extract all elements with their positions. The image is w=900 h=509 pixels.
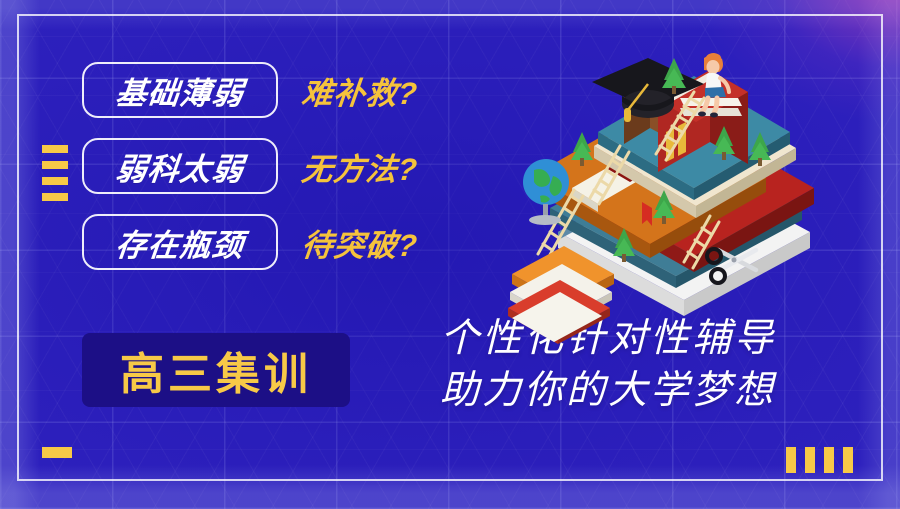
- problem-list: 基础薄弱 难补救? 弱科太弱 无方法? 存在瓶颈 待突破?: [82, 62, 418, 290]
- gold-dash: [42, 145, 68, 153]
- course-badge: 高三集训: [82, 333, 350, 407]
- book-stack-illustration: [498, 36, 884, 326]
- gold-dash: [42, 161, 68, 169]
- problem-label: 基础薄弱: [114, 68, 247, 113]
- gold-dash: [42, 193, 68, 201]
- problem-row: 基础薄弱 难补救?: [82, 62, 418, 118]
- gold-bar: [786, 447, 796, 473]
- tagline-block: 个性化针对性辅导 助力你的大学梦想: [440, 313, 776, 417]
- gold-dash: [42, 177, 68, 185]
- gold-bar: [843, 447, 853, 473]
- left-gold-dash-group: [42, 145, 68, 201]
- tagline-line-2: 助力你的大学梦想: [440, 365, 776, 417]
- badge-text: 高三集训: [120, 338, 312, 402]
- problem-question: 无方法?: [300, 144, 421, 189]
- problem-label: 弱科太弱: [114, 144, 247, 189]
- problem-question: 难补救?: [300, 68, 421, 113]
- problem-chip-2: 弱科太弱: [82, 138, 278, 194]
- bottom-right-gold-bar-group: [786, 447, 853, 473]
- bottom-left-gold-dash: [42, 447, 72, 458]
- problem-row: 弱科太弱 无方法?: [82, 138, 418, 194]
- poster-canvas: 基础薄弱 难补救? 弱科太弱 无方法? 存在瓶颈 待突破? 高三集训 个性化针对…: [0, 0, 900, 509]
- gold-bar: [824, 447, 834, 473]
- problem-question: 待突破?: [300, 220, 421, 265]
- gold-bar: [805, 447, 815, 473]
- problem-label: 存在瓶颈: [114, 220, 247, 265]
- problem-chip-3: 存在瓶颈: [82, 214, 278, 270]
- problem-row: 存在瓶颈 待突破?: [82, 214, 418, 270]
- problem-chip-1: 基础薄弱: [82, 62, 278, 118]
